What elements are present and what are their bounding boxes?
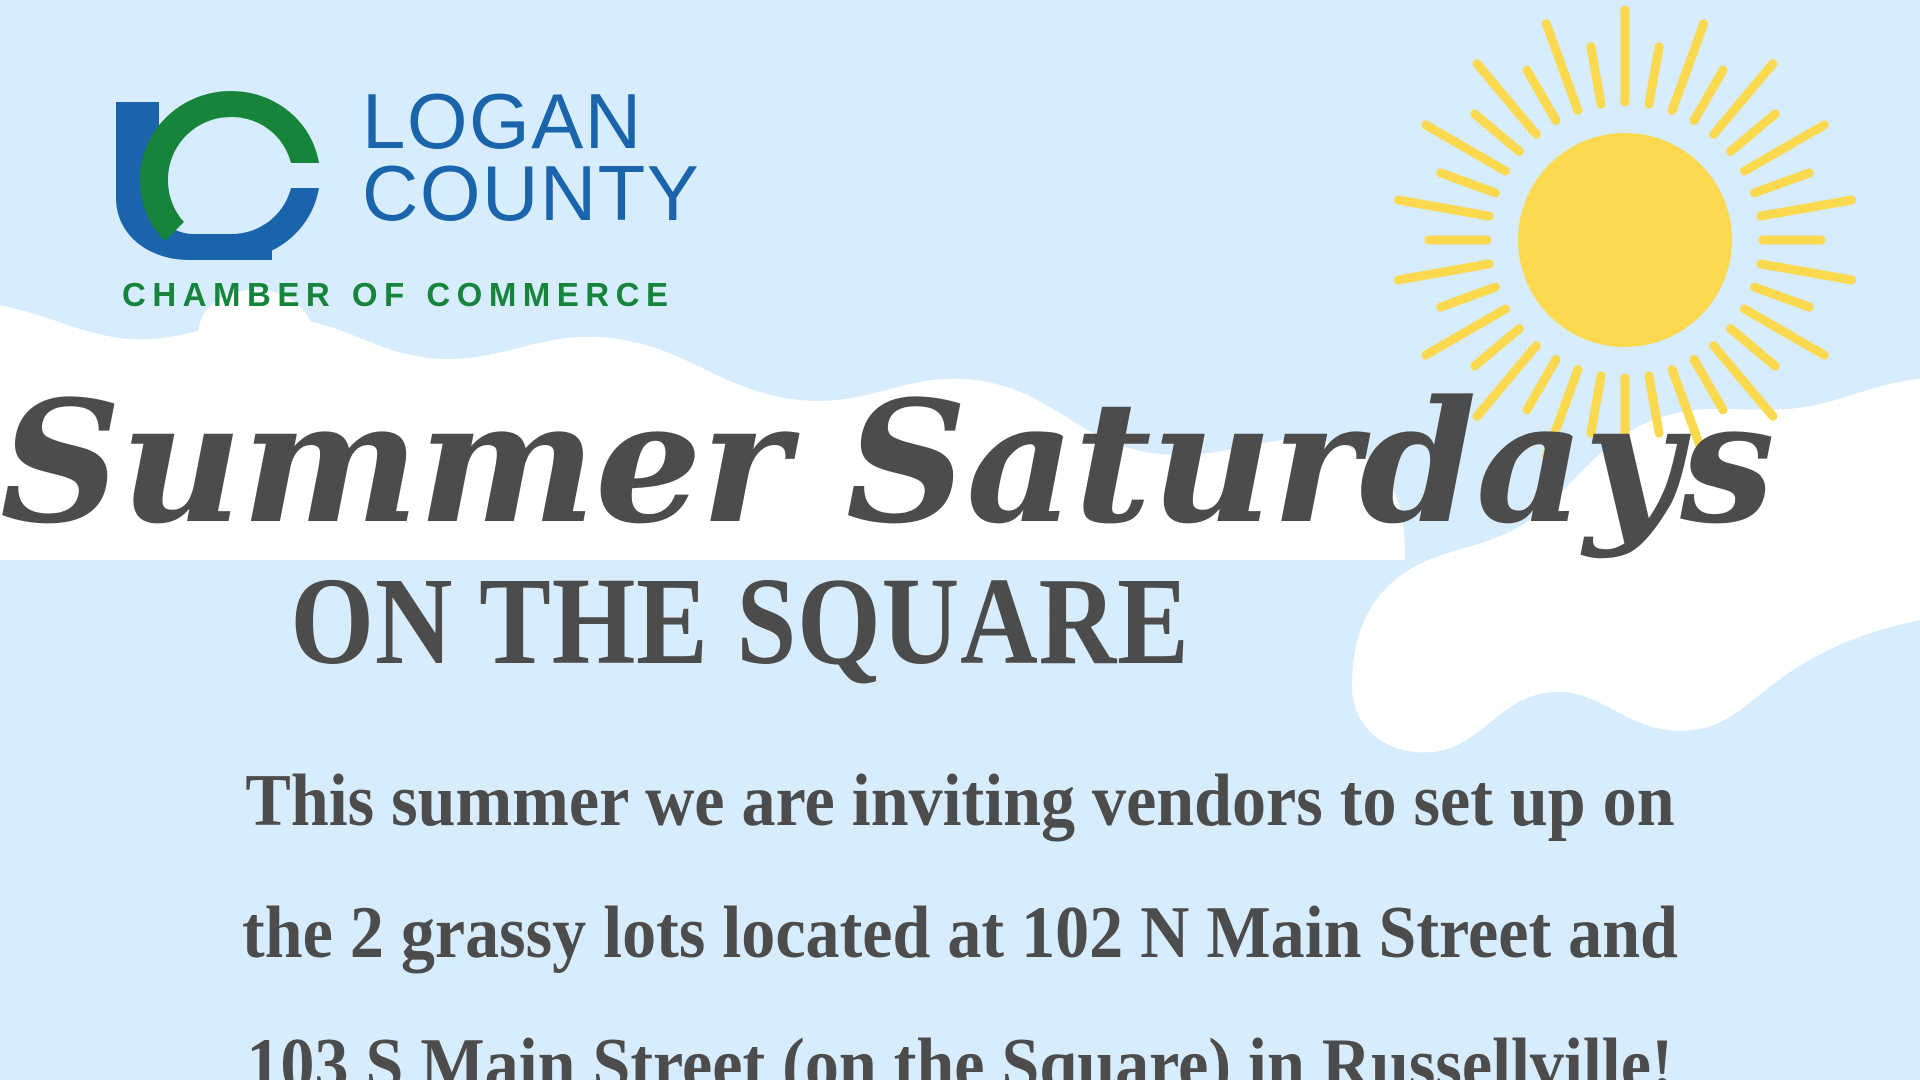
body-copy: This summer we are inviting vendors to s…: [0, 735, 1920, 1080]
body-line: 103 S Main Street (on the Square) in Rus…: [77, 999, 1843, 1080]
logo-wordmark: LOGAN COUNTY: [362, 86, 700, 230]
body-line: This summer we are inviting vendors to s…: [77, 735, 1843, 867]
logo-word-county: COUNTY: [362, 158, 700, 230]
logo-word-logan: LOGAN: [362, 86, 700, 158]
summer-saturdays-flyer: LOGAN COUNTY CHAMBER OF COMMERCE Summer …: [0, 0, 1920, 1080]
headline-subtitle: ON THE SQUARE: [104, 560, 1377, 685]
lc-monogram-icon: [112, 88, 327, 263]
body-line: the 2 grassy lots located at 102 N Main …: [77, 867, 1843, 999]
logo-tagline: CHAMBER OF COMMERCE: [122, 276, 674, 314]
logan-county-chamber-logo: LOGAN COUNTY CHAMBER OF COMMERCE: [112, 88, 792, 298]
sun-disc: [1518, 133, 1732, 347]
headline-script: Summer Saturdays: [0, 378, 1700, 546]
